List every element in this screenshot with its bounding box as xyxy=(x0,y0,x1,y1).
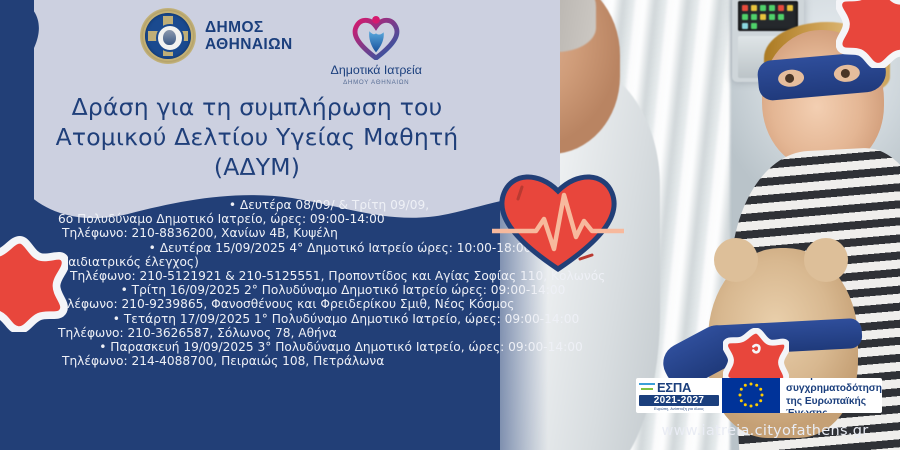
schedule-line: • Παρασκευή 19/09/2025 3° Πολυδύναμο Δημ… xyxy=(0,340,640,354)
title-line-3: (ΑΔΥΜ) xyxy=(22,152,492,182)
star-top-right xyxy=(836,0,900,68)
espa-subtitle: Ευρώπη, Ανάπτυξη για όλους xyxy=(639,407,719,411)
athens-label-line2: ΑΘΗΝΑΙΩΝ xyxy=(205,36,293,53)
espa-title-row: ΕΣΠΑ xyxy=(639,381,719,394)
eu-funding-line2: της Ευρωπαϊκής Ένωσης xyxy=(786,396,882,414)
schedule-line: • Τρίτη 16/09/2025 2° Πολυδύναμο Δημοτικ… xyxy=(0,283,640,297)
title-line-2: Ατομικού Δελτίου Υγείας Μαθητή xyxy=(22,122,492,152)
schedule-line: • Τετάρτη 17/09/2025 1° Πολυδύναμο Δημοτ… xyxy=(0,312,640,326)
espa-years: 2021-2027 xyxy=(639,395,719,406)
funding-badge-bar: ΕΣΠΑ 2021-2027 Ευρώπη, Ανάπτυξη για όλου… xyxy=(636,378,882,413)
city-of-athens-seal-icon xyxy=(140,8,196,64)
schedule-line: Τηλέφωνο: 214-4088700, Πειραιώς 108, Πετ… xyxy=(0,354,640,368)
clinics-subtitle: ΔΗΜΟΥ ΑΘΗΝΑΙΩΝ xyxy=(331,79,422,86)
star-left xyxy=(0,236,68,332)
espa-logo: ΕΣΠΑ 2021-2027 Ευρώπη, Ανάπτυξη για όλου… xyxy=(636,378,722,413)
espa-title: ΕΣΠΑ xyxy=(657,381,691,394)
title-line-1: Δράση για τη συμπλήρωση του xyxy=(22,92,492,122)
schedule-line: Τηλέφωνο: 210-9239865, Φανοσθένους και Φ… xyxy=(0,297,640,311)
eu-flag-icon xyxy=(722,378,780,413)
espa-wave-icon xyxy=(639,382,655,393)
poster-canvas: ΔΗΜΟΣ ΑΘΗΝΑΙΩΝ xyxy=(0,0,900,450)
heartbeat-glyph xyxy=(492,163,624,275)
logo-city-of-athens-text: ΔΗΜΟΣ ΑΘΗΝΑΙΩΝ xyxy=(205,19,293,54)
clinics-heart-hand-icon xyxy=(347,8,405,60)
eu-flag-stars xyxy=(722,378,780,413)
logo-city-of-athens: ΔΗΜΟΣ ΑΘΗΝΑΙΩΝ xyxy=(140,8,293,64)
logo-row: ΔΗΜΟΣ ΑΘΗΝΑΙΩΝ xyxy=(140,8,460,90)
eu-funding-text: Με τη συγχρηματοδότηση της Ευρωπαϊκής Έν… xyxy=(780,378,882,413)
eu-funding-line1: Με τη συγχρηματοδότηση xyxy=(786,378,882,396)
heartbeat-icon xyxy=(492,163,624,275)
heart-hand-glyph xyxy=(351,16,401,60)
athens-label-line1: ΔΗΜΟΣ xyxy=(205,19,293,36)
clinics-title: Δημοτικά Ιατρεία xyxy=(331,63,422,77)
logo-municipal-clinics: Δημοτικά Ιατρεία ΔΗΜΟΥ ΑΘΗΝΑΙΩΝ xyxy=(331,8,422,86)
poster-title: Δράση για τη συμπλήρωση του Ατομικού Δελ… xyxy=(22,92,492,182)
website-url[interactable]: www.iatreia.cityofathens.gr xyxy=(640,423,890,439)
schedule-line: Τηλέφωνο: 210-3626587, Σόλωνος 78, Αθήνα xyxy=(0,326,640,340)
